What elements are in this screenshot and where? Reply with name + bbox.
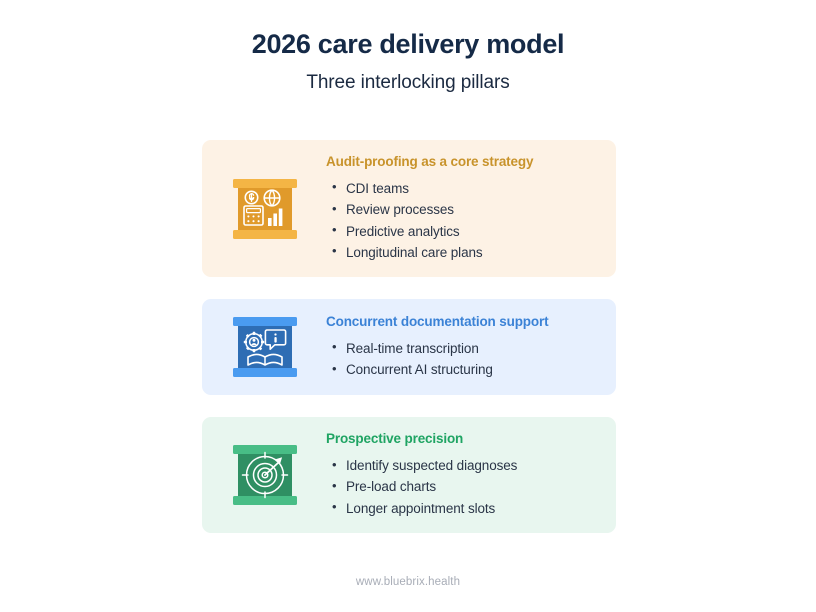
- card-title: Audit-proofing as a core strategy: [326, 154, 598, 171]
- card-bullet-list: Real-time transcription Concurrent AI st…: [326, 338, 598, 381]
- infographic-page: 2026 care delivery model Three interlock…: [0, 0, 816, 612]
- list-item: Identify suspected diagnoses: [346, 455, 598, 476]
- page-title: 2026 care delivery model: [0, 28, 816, 60]
- target-arrow-icon: [230, 441, 300, 509]
- header: 2026 care delivery model Three interlock…: [0, 0, 816, 95]
- pillar-card-prospective-precision: Prospective precision Identify suspected…: [202, 417, 616, 533]
- list-item: Longer appointment slots: [346, 498, 598, 519]
- finance-calculator-chart-icon: [230, 175, 300, 243]
- card-body: Audit-proofing as a core strategy CDI te…: [326, 154, 598, 263]
- list-item: CDI teams: [346, 178, 598, 199]
- icon-container: [228, 313, 302, 381]
- list-item: Predictive analytics: [346, 221, 598, 242]
- icon-container: [228, 441, 302, 509]
- card-title: Prospective precision: [326, 431, 598, 448]
- list-item: Longitudinal care plans: [346, 242, 598, 263]
- card-bullet-list: Identify suspected diagnoses Pre-load ch…: [326, 455, 598, 519]
- list-item: Concurrent AI structuring: [346, 359, 598, 380]
- card-body: Prospective precision Identify suspected…: [326, 431, 598, 519]
- list-item: Review processes: [346, 199, 598, 220]
- pillar-card-list: Audit-proofing as a core strategy CDI te…: [202, 140, 616, 555]
- footer-url: www.bluebrix.health: [0, 576, 816, 588]
- list-item: Pre-load charts: [346, 476, 598, 497]
- list-item: Real-time transcription: [346, 338, 598, 359]
- card-bullet-list: CDI teams Review processes Predictive an…: [326, 178, 598, 263]
- gear-info-book-icon: [230, 313, 300, 381]
- card-title: Concurrent documentation support: [326, 314, 598, 331]
- pillar-card-audit-proofing: Audit-proofing as a core strategy CDI te…: [202, 140, 616, 277]
- page-subtitle: Three interlocking pillars: [0, 72, 816, 95]
- pillar-card-concurrent-documentation: Concurrent documentation support Real-ti…: [202, 299, 616, 395]
- icon-container: [228, 175, 302, 243]
- card-body: Concurrent documentation support Real-ti…: [326, 314, 598, 381]
